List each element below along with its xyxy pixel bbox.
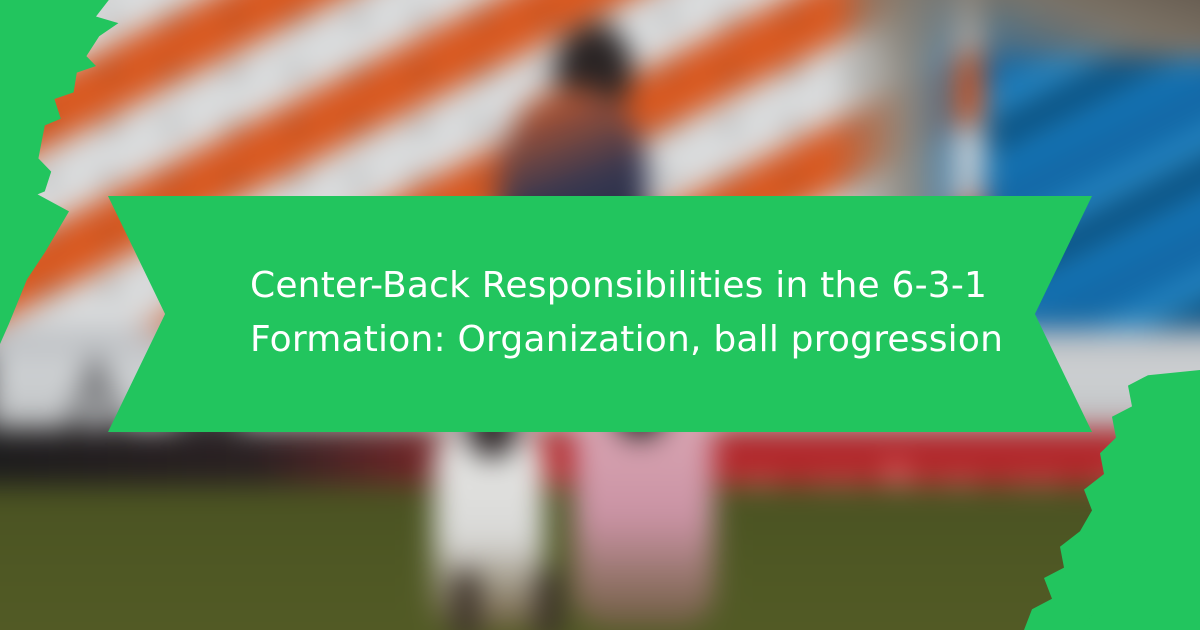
player-pink-kit xyxy=(574,407,714,627)
player-white-kit xyxy=(434,429,544,629)
article-title-line-1: Center-Back Responsibilities in the 6-3-… xyxy=(250,259,950,313)
article-share-card: Santander Santander Center-Back Responsi… xyxy=(0,0,1200,630)
title-ribbon-banner: Center-Back Responsibilities in the 6-3-… xyxy=(108,196,1092,432)
player-leg-left xyxy=(453,571,479,630)
stand-roof-shadow xyxy=(856,0,1200,59)
player-leg-right xyxy=(536,571,562,630)
article-title: Center-Back Responsibilities in the 6-3-… xyxy=(250,259,950,369)
article-title-line-2: Formation: Organization, ball progressio… xyxy=(250,313,950,367)
